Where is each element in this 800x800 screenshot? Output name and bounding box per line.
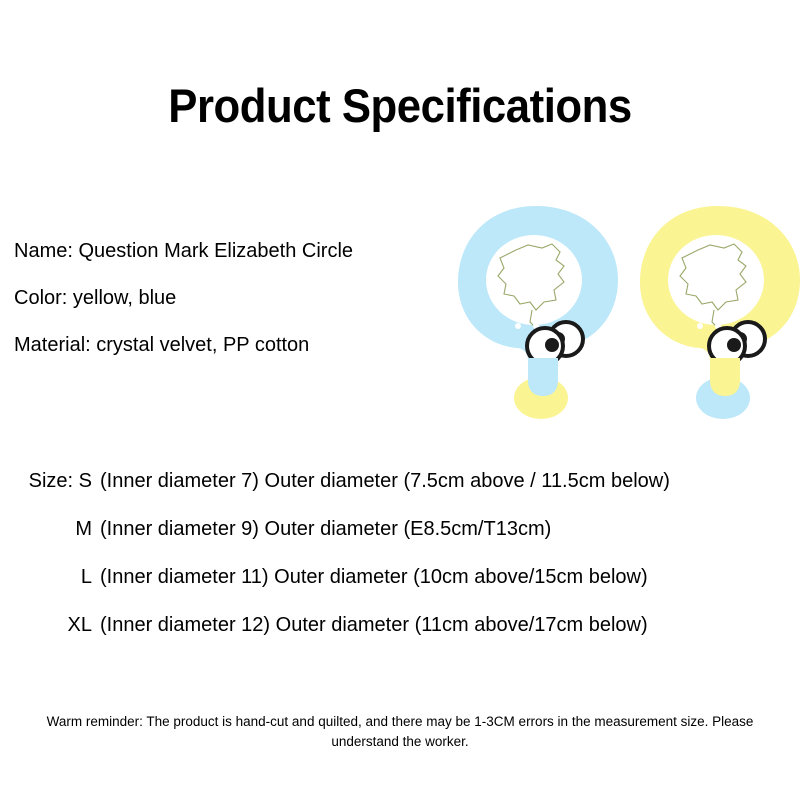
attribute-name: Name: Question Mark Elizabeth Circle: [14, 228, 454, 275]
attribute-color: Color: yellow, blue: [14, 275, 454, 322]
question-mark-plush-yellow: [630, 198, 800, 420]
plush-inner-hole: [668, 235, 764, 325]
attribute-material: Material: crystal velvet, PP cotton: [14, 322, 454, 369]
size-spec-s: (Inner diameter 7) Outer diameter (7.5cm…: [92, 470, 670, 493]
plush-dot-left: [515, 323, 521, 329]
size-chart: Size: S (Inner diameter 7) Outer diamete…: [14, 470, 794, 662]
size-row: L (Inner diameter 11) Outer diameter (10…: [14, 566, 794, 614]
size-row: XL (Inner diameter 12) Outer diameter (1…: [14, 614, 794, 662]
product-images: [440, 198, 800, 420]
plush-tail-overlap: [528, 358, 558, 396]
size-spec-l: (Inner diameter 11) Outer diameter (10cm…: [92, 566, 648, 589]
plush-dot-left: [697, 323, 703, 329]
plush-inner-hole: [486, 235, 582, 325]
size-row: M (Inner diameter 9) Outer diameter (E8.…: [14, 518, 794, 566]
plush-tail-overlap: [710, 358, 740, 396]
size-spec-xl: (Inner diameter 12) Outer diameter (11cm…: [92, 614, 648, 637]
size-spec-m: (Inner diameter 9) Outer diameter (E8.5c…: [92, 518, 551, 541]
size-row: Size: S (Inner diameter 7) Outer diamete…: [14, 470, 794, 518]
eye-left-pupil: [727, 338, 741, 352]
warm-reminder-note: Warm reminder: The product is hand-cut a…: [20, 712, 780, 752]
eye-left-pupil: [545, 338, 559, 352]
page-title: Product Specifications: [28, 82, 772, 129]
question-mark-plush-blue: [448, 198, 628, 420]
product-attributes: Name: Question Mark Elizabeth Circle Col…: [14, 228, 454, 369]
size-label-xl: XL: [14, 614, 92, 637]
size-label-s: Size: S: [14, 470, 92, 493]
size-label-l: L: [14, 566, 92, 589]
size-label-m: M: [14, 518, 92, 541]
